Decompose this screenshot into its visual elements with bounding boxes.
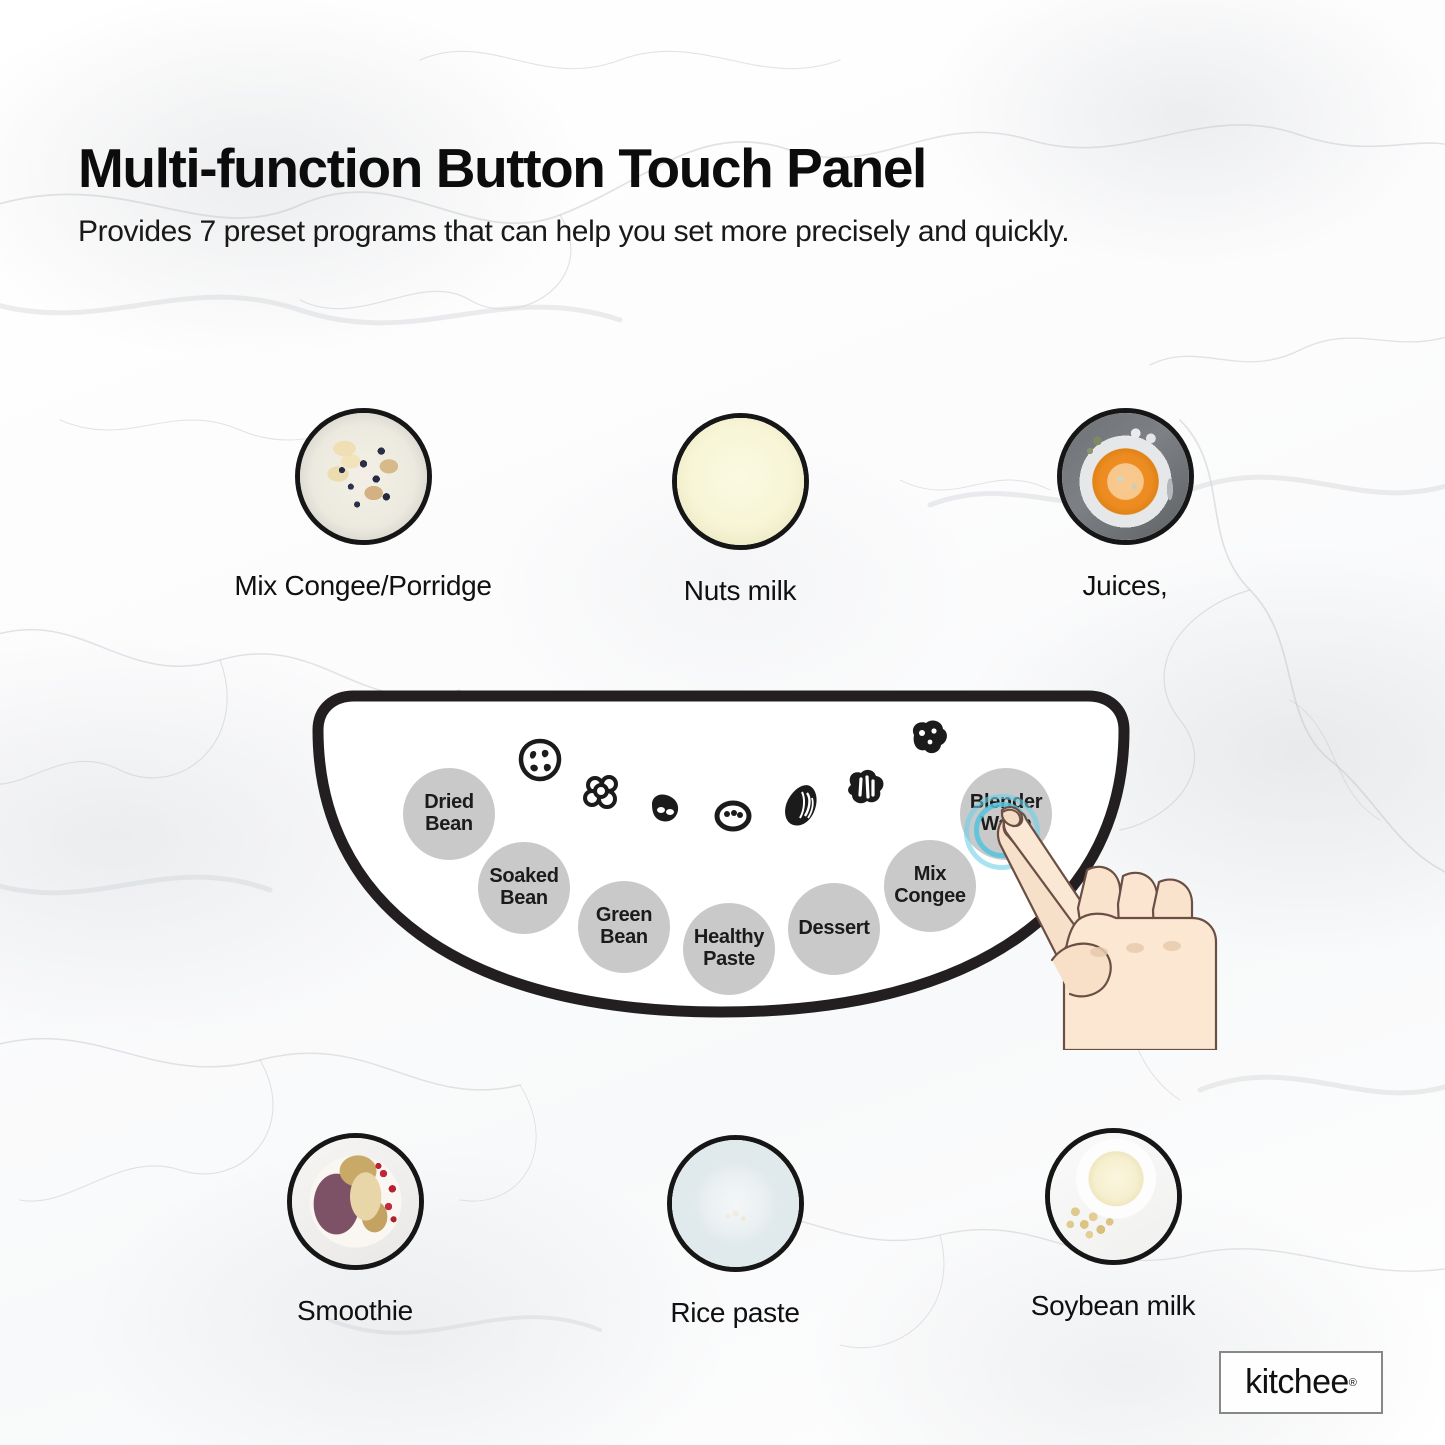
food-item-soybean-milk: Soybean milk	[963, 1128, 1263, 1322]
preset-button-soaked-bean[interactable]: SoakedBean	[478, 842, 570, 934]
preset-button-label: HealthyPaste	[694, 927, 764, 970]
preset-button-mix-congee[interactable]: MixCongee	[884, 840, 976, 932]
food-photo-soybean-milk	[1045, 1128, 1182, 1265]
nut-icon	[906, 717, 950, 759]
food-photo-porridge	[295, 408, 432, 545]
bean-cluster-icon	[646, 790, 684, 826]
brand-logo: kitchee®	[1219, 1351, 1383, 1414]
corn-icon	[780, 782, 824, 830]
food-item-nuts-milk: Nuts milk	[590, 413, 890, 607]
soybean-milk-icon	[1050, 1133, 1177, 1260]
nut-milk-glass-icon	[677, 418, 804, 545]
food-photo-nuts-milk	[672, 413, 809, 550]
smoothie-bowl-icon	[292, 1138, 419, 1265]
food-photo-juices	[1057, 408, 1194, 545]
preset-button-label: Dessert	[798, 918, 869, 940]
preset-button-dried-bean[interactable]: DriedBean	[403, 768, 495, 860]
food-item-mix-congee-porridge: Mix Congee/Porridge	[213, 408, 513, 602]
porridge-bowl-icon	[300, 413, 427, 540]
food-item-smoothie: Smoothie	[205, 1133, 505, 1327]
food-label: Rice paste	[585, 1297, 885, 1329]
trademark-symbol: ®	[1349, 1377, 1357, 1389]
ginger-icon	[841, 765, 889, 809]
food-label: Nuts milk	[590, 575, 890, 607]
walnut-icon	[518, 738, 562, 782]
preset-button-label: SoakedBean	[489, 866, 558, 909]
infographic-page: Multi-function Button Touch Panel Provid…	[0, 0, 1445, 1445]
food-label: Soybean milk	[963, 1290, 1263, 1322]
header: Multi-function Button Touch Panel Provid…	[78, 140, 1368, 250]
bowl-icon	[714, 800, 752, 832]
rice-paste-bowl-icon	[672, 1140, 799, 1267]
brand-name: kitchee	[1245, 1363, 1349, 1402]
cauliflower-icon	[583, 773, 623, 811]
preset-button-label: GreenBean	[596, 905, 652, 948]
food-item-juices: Juices,	[975, 408, 1275, 602]
preset-button-green-bean[interactable]: GreenBean	[578, 881, 670, 973]
preset-button-label: MixCongee	[894, 864, 966, 907]
hand-pointing-icon	[992, 800, 1232, 1050]
page-subtitle: Provides 7 preset programs that can help…	[78, 213, 1368, 251]
food-photo-smoothie	[287, 1133, 424, 1270]
food-photo-rice-paste	[667, 1135, 804, 1272]
food-label: Juices,	[975, 570, 1275, 602]
food-item-rice-paste: Rice paste	[585, 1135, 885, 1329]
pumpkin-soup-icon	[1062, 413, 1189, 540]
preset-button-dessert[interactable]: Dessert	[788, 883, 880, 975]
page-title: Multi-function Button Touch Panel	[78, 140, 1368, 198]
food-label: Smoothie	[205, 1295, 505, 1327]
food-label: Mix Congee/Porridge	[213, 570, 513, 602]
preset-button-label: DriedBean	[424, 792, 474, 835]
preset-button-healthy-paste[interactable]: HealthyPaste	[683, 903, 775, 995]
